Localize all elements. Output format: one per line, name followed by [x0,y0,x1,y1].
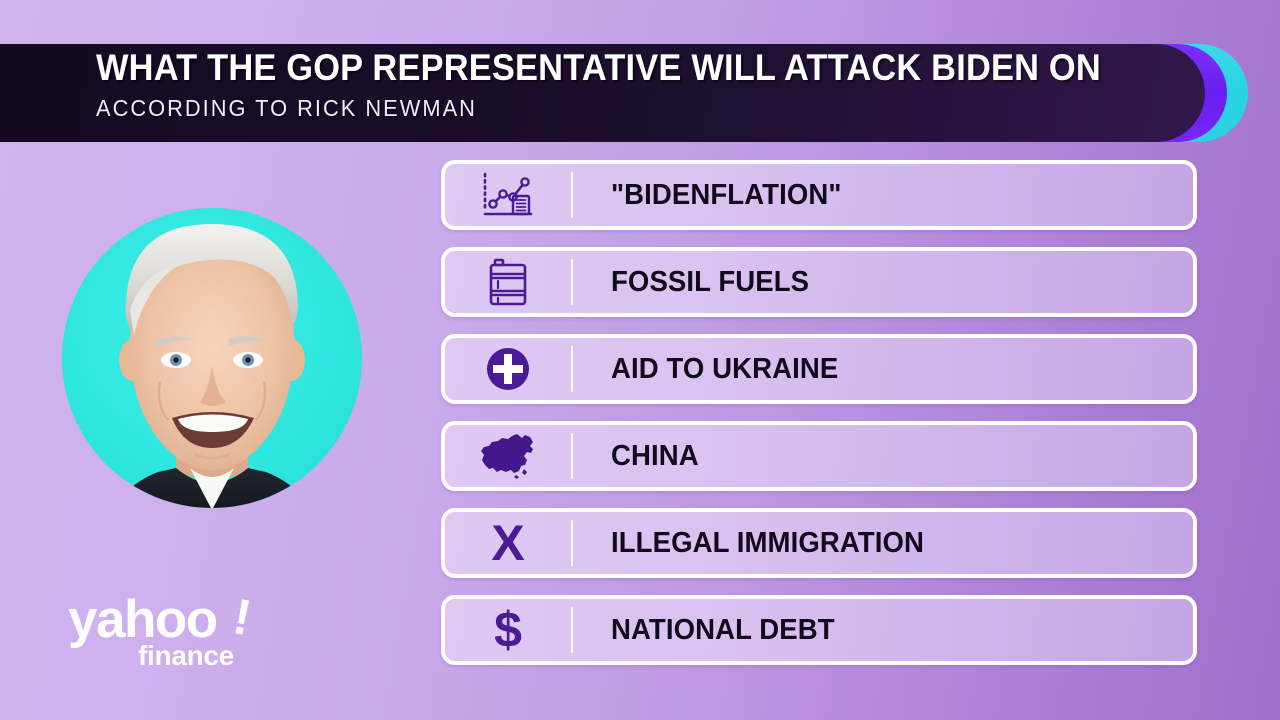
list-item[interactable]: "BIDENFLATION" [441,160,1197,230]
line-chart-report-icon [445,164,571,226]
yahoo-finance-logo[interactable]: yahoo ! finance [68,592,268,676]
list-item-label: ILLEGAL IMMIGRATION [573,527,1162,560]
finance-wordmark: finance [138,641,234,671]
dollar-sign-glyph: $ [494,608,522,652]
attack-topics-list: "BIDENFLATION" [441,160,1197,682]
list-item[interactable]: CHINA [441,421,1197,491]
list-item[interactable]: X ILLEGAL IMMIGRATION [441,508,1197,578]
list-item[interactable]: $ NATIONAL DEBT [441,595,1197,665]
page-subtitle: ACCORDING TO RICK NEWMAN [96,95,1132,121]
dollar-sign-icon: $ [445,599,571,661]
list-item[interactable]: AID TO UKRAINE [441,334,1197,404]
page-title: WHAT THE GOP REPRESENTATIVE WILL ATTACK … [96,48,1110,88]
medical-cross-aid-icon [445,338,571,400]
x-mark-glyph: X [491,521,524,565]
list-item-label: FOSSIL FUELS [573,266,1162,299]
list-item-label: "BIDENFLATION" [573,179,1162,212]
china-map-icon [445,425,571,487]
x-mark-icon: X [445,512,571,574]
title-text-block: WHAT THE GOP REPRESENTATIVE WILL ATTACK … [96,48,1186,140]
oil-barrel-icon [445,251,571,313]
list-item-label: NATIONAL DEBT [573,614,1162,647]
joe-biden-portrait [98,210,326,508]
list-item-label: AID TO UKRAINE [573,353,1162,386]
avatar [62,208,362,508]
list-item-label: CHINA [573,440,1162,473]
list-item[interactable]: FOSSIL FUELS [441,247,1197,317]
yahoo-exclamation-icon: ! [229,588,256,646]
broadcast-graphic: WHAT THE GOP REPRESENTATIVE WILL ATTACK … [0,0,1280,720]
